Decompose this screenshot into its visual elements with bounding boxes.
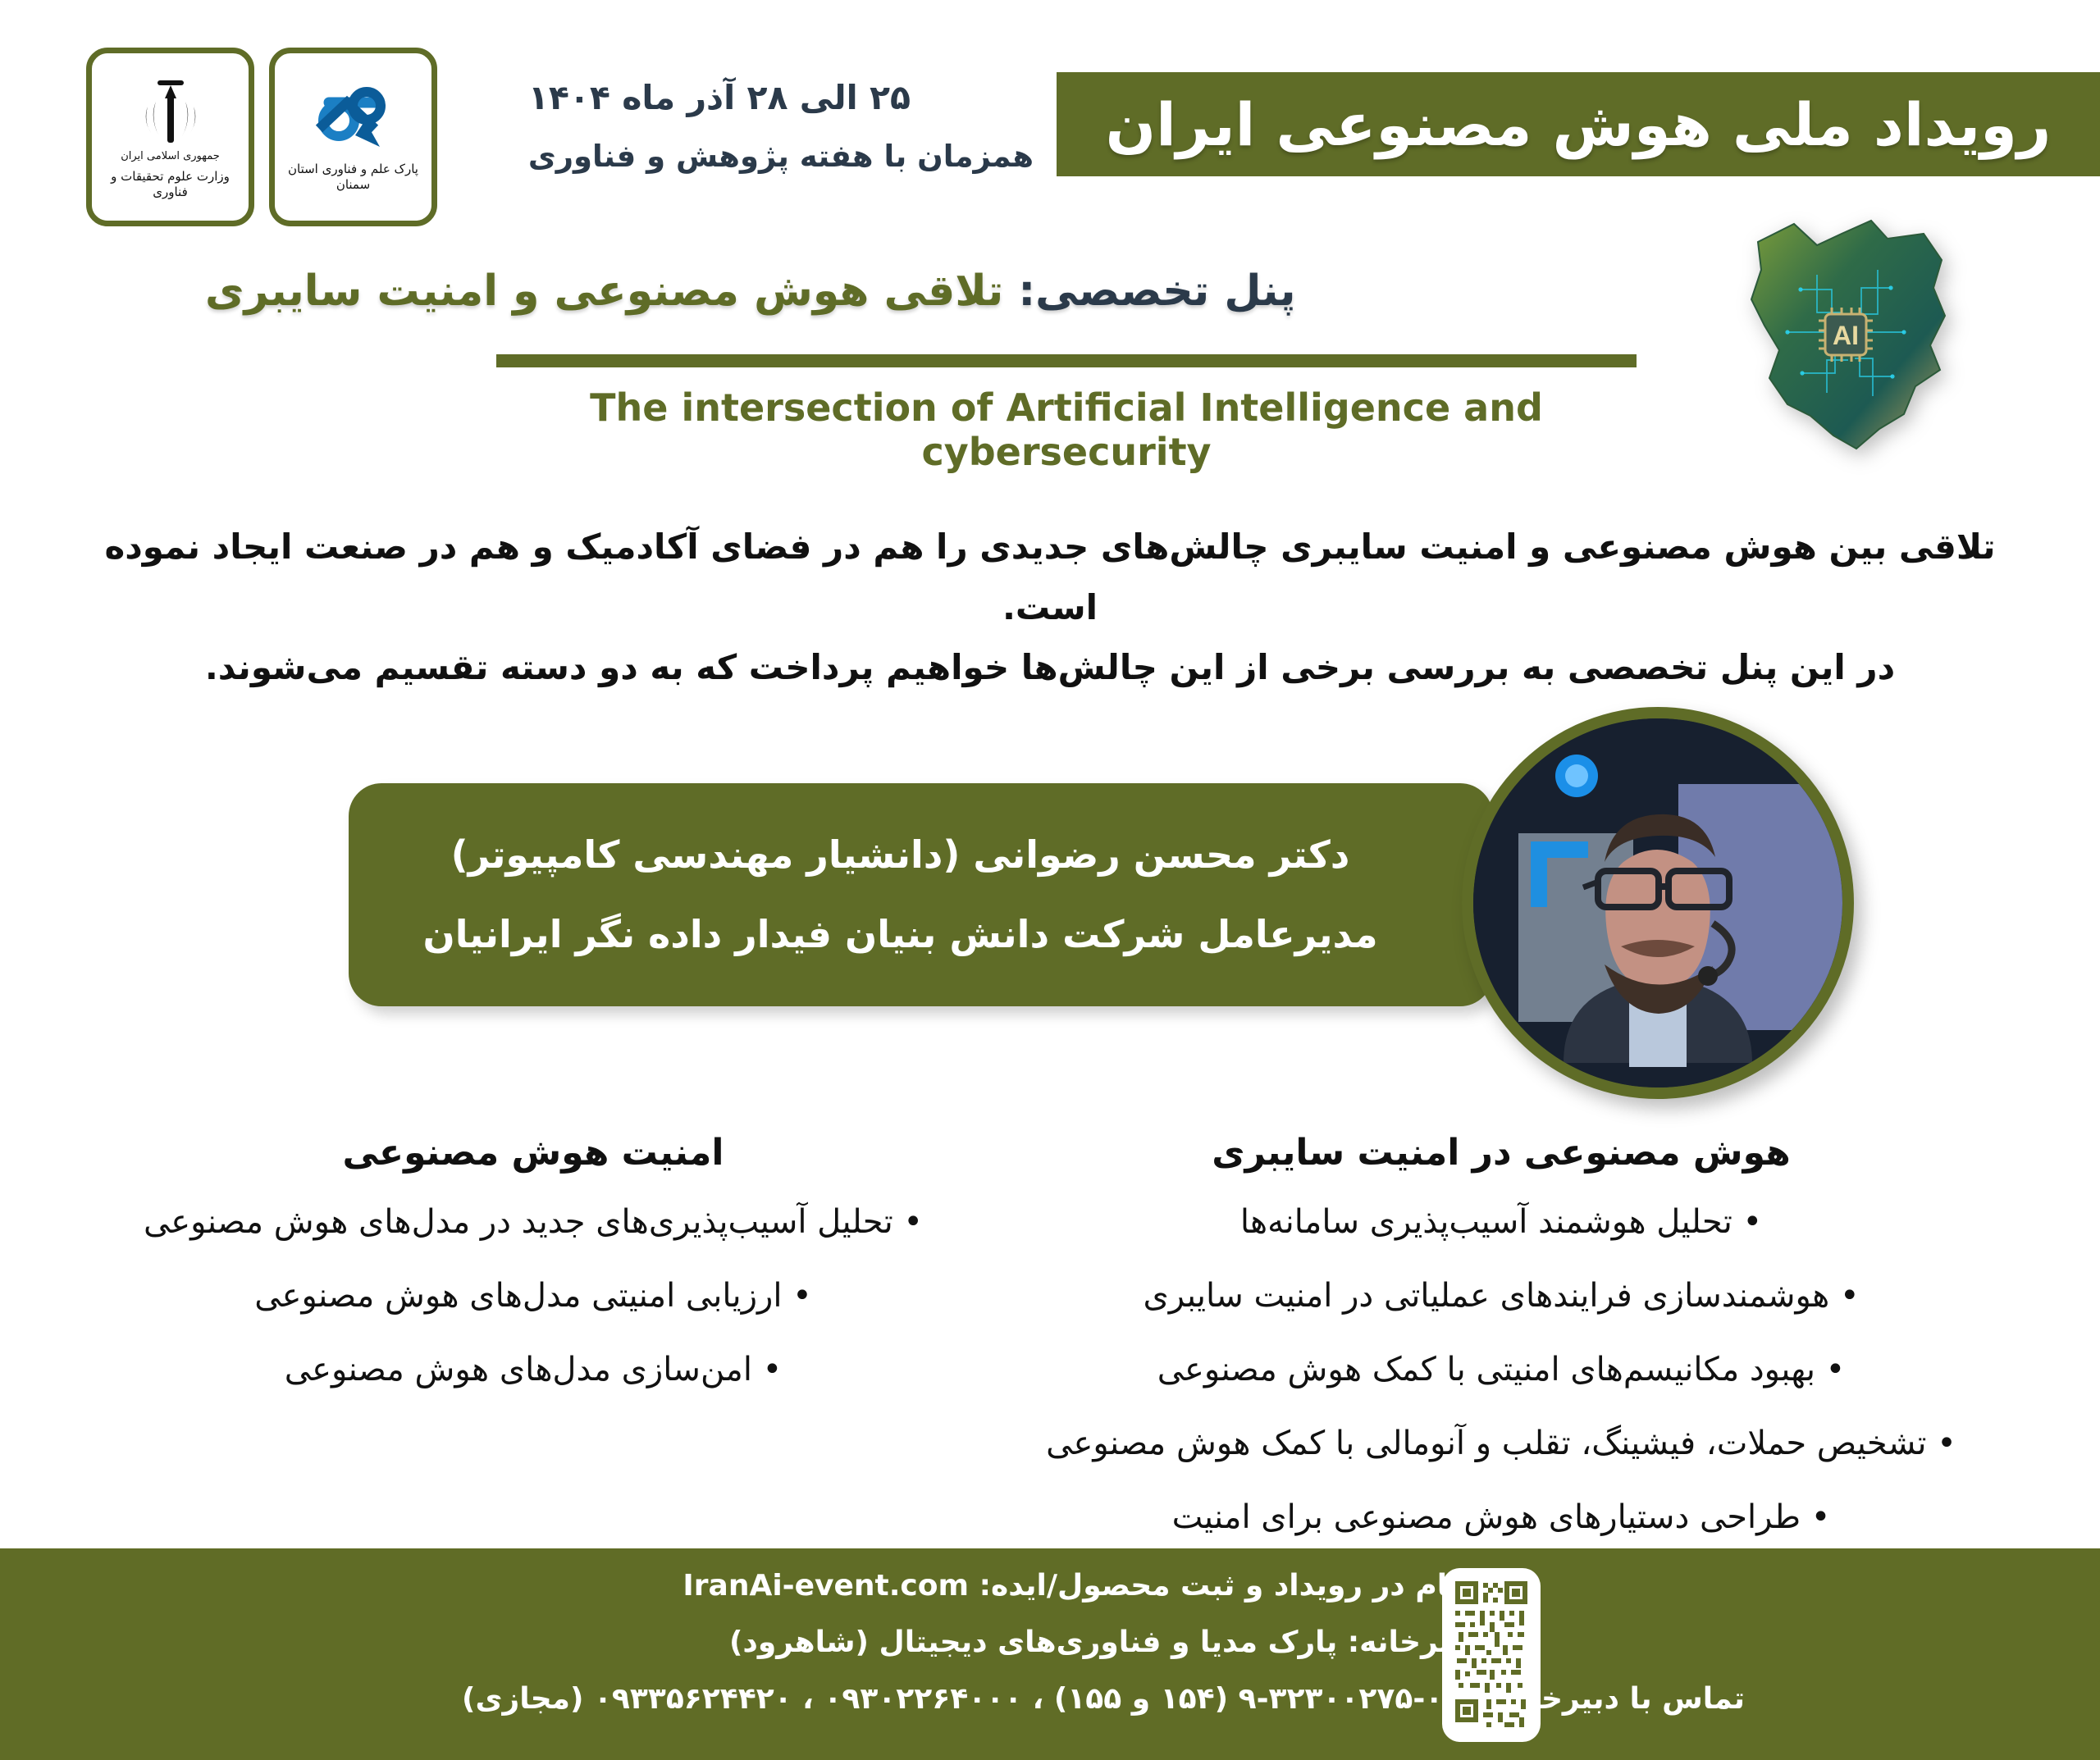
footer-contact-info: ثبت نام در رویداد و ثبت محصول/ایده: Iran…	[377, 1568, 1829, 1739]
list-item: بهبود مکانیسم‌های امنیتی با کمک هوش مصنو…	[976, 1346, 2026, 1393]
logo-row: پارک علم و فناوری استان سمنان جمهوری ا	[86, 48, 437, 226]
event-title: رویداد ملی هوش مصنوعی ایران	[1106, 90, 2052, 159]
list-left-items: تحلیل آسیب‌پذیری‌های جدید در مدل‌های هوش…	[82, 1198, 984, 1393]
list-item: تشخیص حملات، فیشینگ، تقلب و آنومالی با ک…	[976, 1420, 2026, 1467]
panel-title-en: The intersection of Artificial Intellige…	[492, 385, 1641, 474]
logo-card-science-park: پارک علم و فناوری استان سمنان	[269, 48, 437, 226]
event-dates: ۲۵ الی ۲۸ آذر ماه ۱۴۰۴ همزمان با هفته پژ…	[528, 72, 1034, 180]
list-item: تحلیل هوشمند آسیب‌پذیری سامانه‌ها	[976, 1198, 2026, 1246]
ministry-logo-subcaption: جمهوری اسلامی ایران	[121, 150, 220, 162]
list-ai-in-cybersecurity: هوش مصنوعی در امنیت سایبری تحلیل هوشمند …	[976, 1132, 2026, 1567]
panel-description: تلاقی بین هوش مصنوعی و امنیت سایبری چالش…	[90, 517, 2010, 698]
event-date-range: ۲۵ الی ۲۸ آذر ماه ۱۴۰۴	[528, 72, 1034, 125]
list-item: ارزیابی امنیتی مدل‌های هوش مصنوعی	[82, 1272, 984, 1320]
list-item: امن‌سازی مدل‌های هوش مصنوعی	[82, 1346, 984, 1393]
speaker-avatar	[1462, 707, 1854, 1099]
poster-root: پارک علم و فناوری استان سمنان جمهوری ا	[0, 0, 2100, 1760]
footer-website-link[interactable]: IranAi-event.com	[682, 1568, 969, 1603]
qr-code-icon[interactable]	[1442, 1568, 1541, 1742]
list-left-heading: امنیت هوش مصنوعی	[82, 1132, 984, 1174]
speaker-name: دکتر محسن رضوانی (دانشیار مهندسی کامپیوت…	[418, 826, 1424, 884]
footer-secretariat-line: دبیرخانه: پارک مدیا و فناوری‌های دیجیتال…	[377, 1625, 1829, 1660]
panel-title-text: تلاقی هوش مصنوعی و امنیت سایبری	[205, 267, 1003, 316]
event-title-banner: رویداد ملی هوش مصنوعی ایران	[1057, 72, 2100, 176]
footer-registration-line: ثبت نام در رویداد و ثبت محصول/ایده: Iran…	[377, 1568, 1829, 1603]
list-item: هوشمندسازی فرایندهای عملیاتی در امنیت سا…	[976, 1272, 2026, 1320]
science-park-logo-caption: پارک علم و فناوری استان سمنان	[281, 162, 425, 193]
event-date-note: همزمان با هفته پژوهش و فناوری	[528, 133, 1034, 180]
iran-emblem-icon	[138, 75, 203, 150]
list-right-heading: هوش مصنوعی در امنیت سایبری	[976, 1132, 2026, 1174]
footer-phone-line: تماس با دبیرخانه: ۰۲۳-۳۲۳۰۰۲۷۵-۹ (۱۵۴ و …	[377, 1681, 1829, 1717]
list-ai-security: امنیت هوش مصنوعی تحلیل آسیب‌پذیری‌های جد…	[82, 1132, 984, 1420]
science-park-logo-icon	[304, 81, 403, 157]
panel-description-line-2: در این پنل تخصصی به بررسی برخی از این چا…	[90, 637, 2010, 698]
ai-chip-label: AI	[1833, 321, 1859, 350]
list-item: طراحی دستیارهای هوش مصنوعی برای امنیت	[976, 1493, 2026, 1541]
panel-title-fa: پنل تخصصی: تلاقی هوش مصنوعی و امنیت سایب…	[205, 267, 1312, 316]
iran-map-ai-chip-image: AI	[1719, 209, 1973, 463]
ministry-logo-caption: وزارت علوم تحقیقات و فناوری	[98, 169, 242, 200]
speaker-role: مدیرعامل شرکت دانش بنیان فیدار داده نگر …	[390, 905, 1451, 964]
panel-divider	[496, 354, 1637, 367]
speaker-info-box: دکتر محسن رضوانی (دانشیار مهندسی کامپیوت…	[349, 783, 1493, 1006]
logo-card-ministry: جمهوری اسلامی ایران وزارت علوم تحقیقات و…	[86, 48, 254, 226]
list-right-items: تحلیل هوشمند آسیب‌پذیری سامانه‌ها هوشمند…	[976, 1198, 2026, 1541]
list-item: تحلیل آسیب‌پذیری‌های جدید در مدل‌های هوش…	[82, 1198, 984, 1246]
footer-band: ثبت نام در رویداد و ثبت محصول/ایده: Iran…	[0, 1548, 2100, 1760]
panel-label: پنل تخصصی:	[1018, 267, 1295, 316]
panel-description-line-1: تلاقی بین هوش مصنوعی و امنیت سایبری چالش…	[90, 517, 2010, 637]
